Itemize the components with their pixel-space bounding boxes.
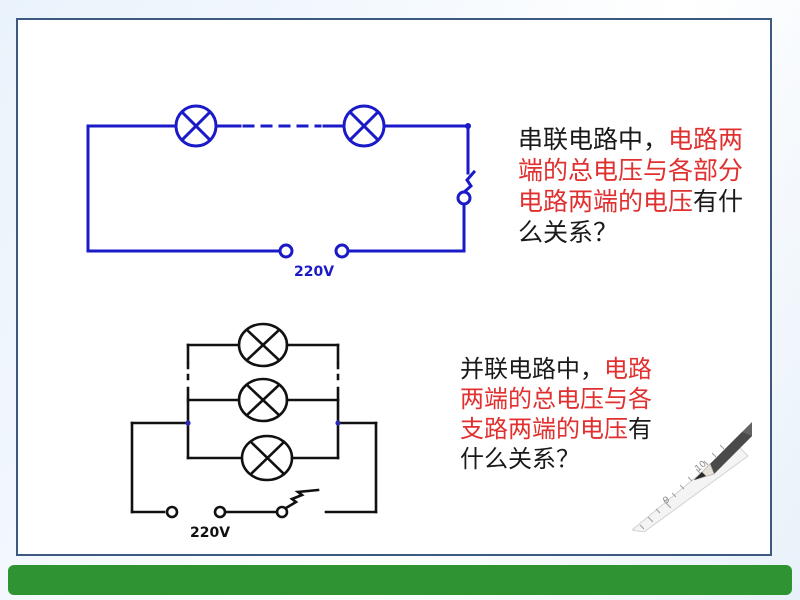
parallel-source-label: 220V xyxy=(190,525,230,541)
series-source-label: 220V xyxy=(294,264,334,280)
switch-lever xyxy=(463,172,474,193)
source-terminal-right xyxy=(336,245,348,257)
content-panel: 220V xyxy=(16,18,772,556)
parallel-circuit-svg: 220V xyxy=(130,320,430,545)
question-parallel-part-1: 并联电路中， xyxy=(460,355,604,383)
ruler-tick-label-10: 10 xyxy=(694,459,709,474)
lamp-2-symbol xyxy=(344,106,384,146)
lamp-p3-symbol xyxy=(242,436,292,480)
source-terminal-left xyxy=(280,245,292,257)
junction-dot-left xyxy=(185,420,190,425)
series-circuit-diagram: 220V xyxy=(68,98,488,293)
p-source-terminal-left xyxy=(167,507,177,517)
lamp-p1-symbol xyxy=(239,324,287,366)
question-series-circuit: 串联电路中，电路两端的总电压与各部分电路两端的电压有什么关系？ xyxy=(518,124,758,248)
pencil-icon xyxy=(694,422,752,480)
p-switch-lever xyxy=(286,490,318,508)
question-parallel-circuit: 并联电路中，电路两端的总电压与各支路两端的电压有什么关系？ xyxy=(460,354,675,474)
p-source-terminal-right xyxy=(215,507,225,517)
bottom-green-bar xyxy=(8,565,792,595)
ruler-tick-label-9: 9 xyxy=(662,495,673,507)
lamp-1-symbol xyxy=(176,106,216,146)
parallel-circuit-diagram: 220V xyxy=(130,320,430,545)
junction-dot-right xyxy=(335,420,340,425)
question-series-part-1: 串联电路中， xyxy=(518,125,668,154)
node-dot-top-right xyxy=(465,123,471,129)
series-circuit-svg: 220V xyxy=(68,98,488,293)
lamp-p2-symbol xyxy=(239,379,287,421)
slide-canvas: 220V xyxy=(0,0,800,600)
switch-pivot xyxy=(458,192,470,204)
